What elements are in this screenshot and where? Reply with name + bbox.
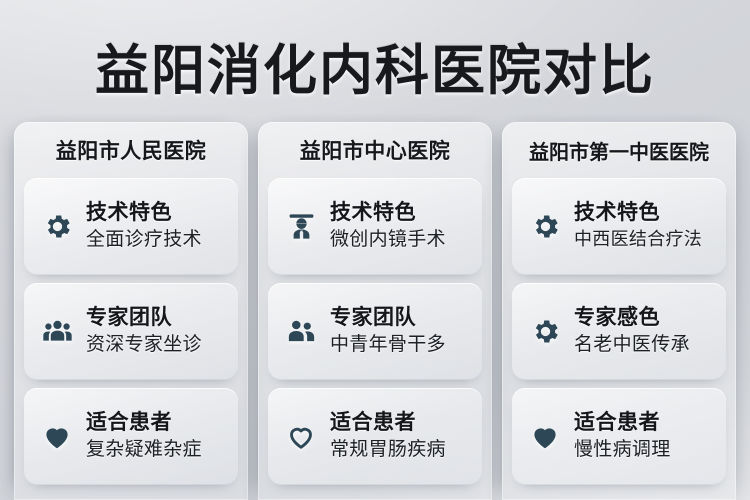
feature-value: 常规胃肠疾病 (330, 438, 446, 463)
gear-icon (528, 210, 562, 244)
feature-label: 专家感色 (574, 306, 690, 331)
feature-value: 名老中医传承 (574, 333, 690, 358)
feature-label: 技术特色 (330, 201, 446, 226)
feature-card[interactable]: 技术特色 全面诊疗技术 (24, 178, 238, 275)
feature-card[interactable]: 专家团队 中青年骨干多 (268, 283, 482, 380)
hospital-column-3: 益阳市第一中医医院 技术特色 中西医结合疗法 专家感色 名老中医传承 (502, 122, 736, 500)
feature-value: 慢性病调理 (574, 438, 671, 463)
heart-filled-icon (528, 420, 562, 454)
feature-card[interactable]: 适合患者 常规胃肠疾病 (268, 388, 482, 485)
heart-outline-icon (284, 420, 318, 454)
feature-label: 适合患者 (86, 411, 202, 436)
feature-label: 技术特色 (86, 201, 202, 226)
feature-card[interactable]: 适合患者 复杂疑难杂症 (24, 388, 238, 485)
feature-label: 专家团队 (330, 306, 446, 331)
gear-icon (40, 210, 74, 244)
feature-value: 中西医结合疗法 (574, 228, 702, 251)
feature-card[interactable]: 技术特色 中西医结合疗法 (512, 178, 726, 275)
feature-value: 资深专家坐诊 (86, 333, 202, 358)
feature-value: 复杂疑难杂症 (86, 438, 202, 463)
heart-filled-icon (40, 420, 74, 454)
comparison-columns: 益阳市人民医院 技术特色 全面诊疗技术 专家团队 资深专家坐诊 (0, 122, 750, 500)
hospital-name-1: 益阳市人民医院 (24, 122, 238, 178)
people-group-icon (40, 315, 74, 349)
hospital-name-2: 益阳市中心医院 (268, 122, 482, 178)
feature-card[interactable]: 适合患者 慢性病调理 (512, 388, 726, 485)
feature-card[interactable]: 技术特色 微创内镜手术 (268, 178, 482, 275)
feature-label: 技术特色 (574, 201, 702, 226)
hospital-name-3: 益阳市第一中医医院 (512, 122, 726, 178)
feature-card[interactable]: 专家团队 资深专家坐诊 (24, 283, 238, 380)
gear-icon (528, 315, 562, 349)
hospital-column-2: 益阳市中心医院 技术特色 微创内镜手术 专家团队 中青年骨干多 (258, 122, 492, 500)
feature-label: 适合患者 (330, 411, 446, 436)
feature-label: 专家团队 (86, 306, 202, 331)
feature-value: 中青年骨干多 (330, 333, 446, 358)
feature-value: 全面诊疗技术 (86, 228, 202, 253)
doctor-badge-icon (284, 210, 318, 244)
feature-value: 微创内镜手术 (330, 228, 446, 253)
feature-card[interactable]: 专家感色 名老中医传承 (512, 283, 726, 380)
two-people-icon (284, 315, 318, 349)
page-title: 益阳消化内科医院对比 (0, 26, 750, 105)
hospital-column-1: 益阳市人民医院 技术特色 全面诊疗技术 专家团队 资深专家坐诊 (14, 122, 248, 500)
feature-label: 适合患者 (574, 411, 671, 436)
